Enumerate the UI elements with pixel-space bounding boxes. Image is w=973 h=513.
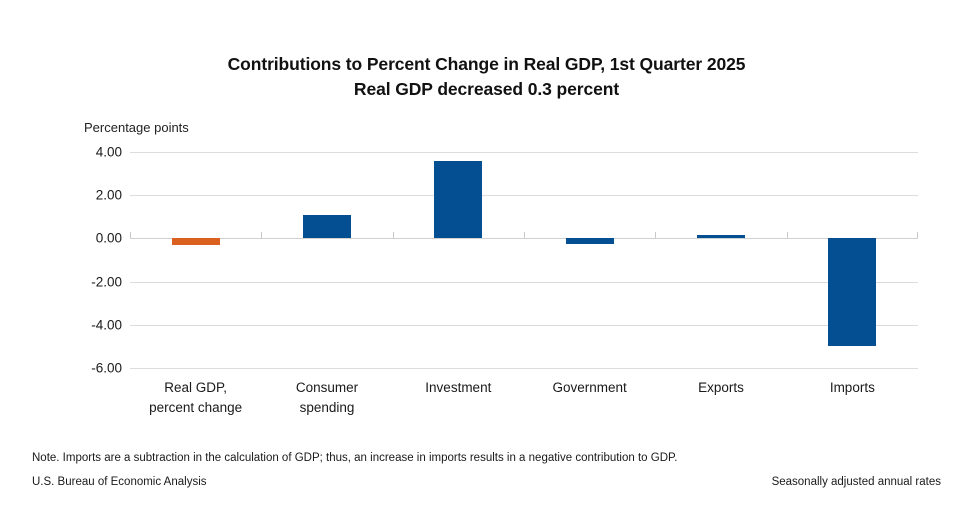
y-axis-tick-label: -2.00 bbox=[2, 274, 122, 289]
x-axis-tick-mark bbox=[261, 232, 262, 238]
gridline bbox=[130, 325, 918, 326]
x-axis-category-label: Real GDP,percent change bbox=[130, 378, 261, 418]
y-axis-tick-labels: 4.002.000.00-2.00-4.00-6.00 bbox=[0, 152, 122, 368]
bar[interactable] bbox=[697, 235, 745, 238]
x-axis-category-label: Investment bbox=[393, 378, 524, 398]
y-axis-tick-label: -4.00 bbox=[2, 317, 122, 332]
bar[interactable] bbox=[434, 161, 482, 239]
x-axis-tick-mark bbox=[524, 232, 525, 238]
x-axis-tick-mark bbox=[787, 232, 788, 238]
category-label-line: Imports bbox=[787, 378, 918, 398]
y-axis-tick-label: 2.00 bbox=[2, 188, 122, 203]
category-label-line: Investment bbox=[393, 378, 524, 398]
plot-area bbox=[130, 152, 918, 368]
chart-note: Note. Imports are a subtraction in the c… bbox=[32, 452, 677, 464]
x-axis-category-label: Consumerspending bbox=[261, 378, 392, 418]
page-title: Contributions to Percent Change in Real … bbox=[0, 52, 973, 77]
y-axis-tick-label: 4.00 bbox=[2, 145, 122, 160]
chart-rate-note: Seasonally adjusted annual rates bbox=[772, 476, 941, 488]
bar[interactable] bbox=[172, 238, 220, 244]
x-axis-tick-mark bbox=[917, 232, 918, 238]
gridline bbox=[130, 282, 918, 283]
y-axis-tick-label: -6.00 bbox=[2, 361, 122, 376]
x-axis-category-label: Imports bbox=[787, 378, 918, 398]
bar[interactable] bbox=[566, 238, 614, 243]
x-axis-tick-mark bbox=[130, 232, 131, 238]
chart-container: Contributions to Percent Change in Real … bbox=[0, 0, 973, 513]
bar[interactable] bbox=[303, 215, 351, 239]
chart-title-block: Contributions to Percent Change in Real … bbox=[0, 52, 973, 102]
category-label-line: Consumer bbox=[261, 378, 392, 398]
gridline bbox=[130, 152, 918, 153]
x-axis-category-labels: Real GDP,percent changeConsumerspendingI… bbox=[130, 378, 918, 428]
x-axis-tick-mark bbox=[655, 232, 656, 238]
category-label-line: percent change bbox=[130, 398, 261, 418]
x-axis-category-label: Exports bbox=[655, 378, 786, 398]
zero-axis-line bbox=[130, 238, 918, 239]
y-axis-unit-label: Percentage points bbox=[84, 120, 189, 135]
x-axis-category-label: Government bbox=[524, 378, 655, 398]
x-axis-tick-mark bbox=[393, 232, 394, 238]
chart-source: U.S. Bureau of Economic Analysis bbox=[32, 476, 207, 488]
category-label-line: Government bbox=[524, 378, 655, 398]
category-label-line: Real GDP, bbox=[130, 378, 261, 398]
category-label-line: spending bbox=[261, 398, 392, 418]
chart-subtitle: Real GDP decreased 0.3 percent bbox=[0, 77, 973, 102]
category-label-line: Exports bbox=[655, 378, 786, 398]
y-axis-tick-label: 0.00 bbox=[2, 231, 122, 246]
gridline bbox=[130, 195, 918, 196]
bar[interactable] bbox=[828, 238, 876, 346]
gridline bbox=[130, 368, 918, 369]
